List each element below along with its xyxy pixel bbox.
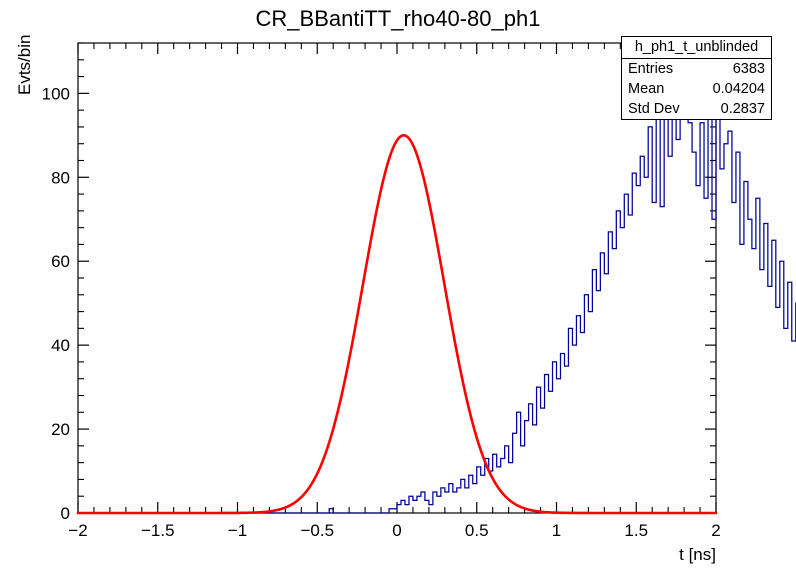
stats-box-title: h_ph1_t_unblinded — [622, 37, 771, 59]
x-tick-label: 0 — [392, 521, 401, 540]
stats-box: h_ph1_t_unblinded Entries6383Mean0.04204… — [621, 36, 772, 120]
x-tick-label: 1 — [552, 521, 561, 540]
x-tick-label: −1 — [228, 521, 247, 540]
y-tick-label: 20 — [51, 420, 70, 439]
y-axis-title: Evts/bin — [15, 35, 34, 95]
x-tick-label: 0.5 — [465, 521, 489, 540]
y-tick-label: 60 — [51, 252, 70, 271]
x-tick-label: −2 — [68, 521, 87, 540]
stats-row-key: Entries — [628, 61, 673, 77]
root-canvas: CR_BBantiTT_rho40-80_ph1 −2−1.5−1−0.500.… — [0, 0, 796, 572]
x-tick-label: −1.5 — [141, 521, 175, 540]
x-axis-title: t [ns] — [679, 545, 716, 564]
x-axis: −2−1.5−1−0.500.511.52t [ns] — [68, 43, 720, 564]
stats-row: Std Dev0.2837 — [622, 99, 771, 119]
y-tick-label: 40 — [51, 336, 70, 355]
stats-row-value: 0.2837 — [721, 101, 765, 117]
stats-row-value: 0.04204 — [713, 81, 765, 97]
fit-curve — [78, 135, 716, 513]
x-tick-label: −0.5 — [300, 521, 334, 540]
x-tick-label: 1.5 — [624, 521, 648, 540]
stats-row: Entries6383 — [622, 59, 771, 79]
y-tick-label: 100 — [42, 84, 70, 103]
stats-row-key: Std Dev — [628, 101, 680, 117]
stats-row-value: 6383 — [733, 61, 765, 77]
stats-row-key: Mean — [628, 81, 664, 97]
y-tick-label: 80 — [51, 168, 70, 187]
stats-row: Mean0.04204 — [622, 79, 771, 99]
y-tick-label: 0 — [61, 504, 70, 523]
y-axis: 020406080100Evts/bin — [15, 35, 716, 523]
stats-box-rows: Entries6383Mean0.04204Std Dev0.2837 — [622, 59, 771, 119]
x-tick-label: 2 — [711, 521, 720, 540]
